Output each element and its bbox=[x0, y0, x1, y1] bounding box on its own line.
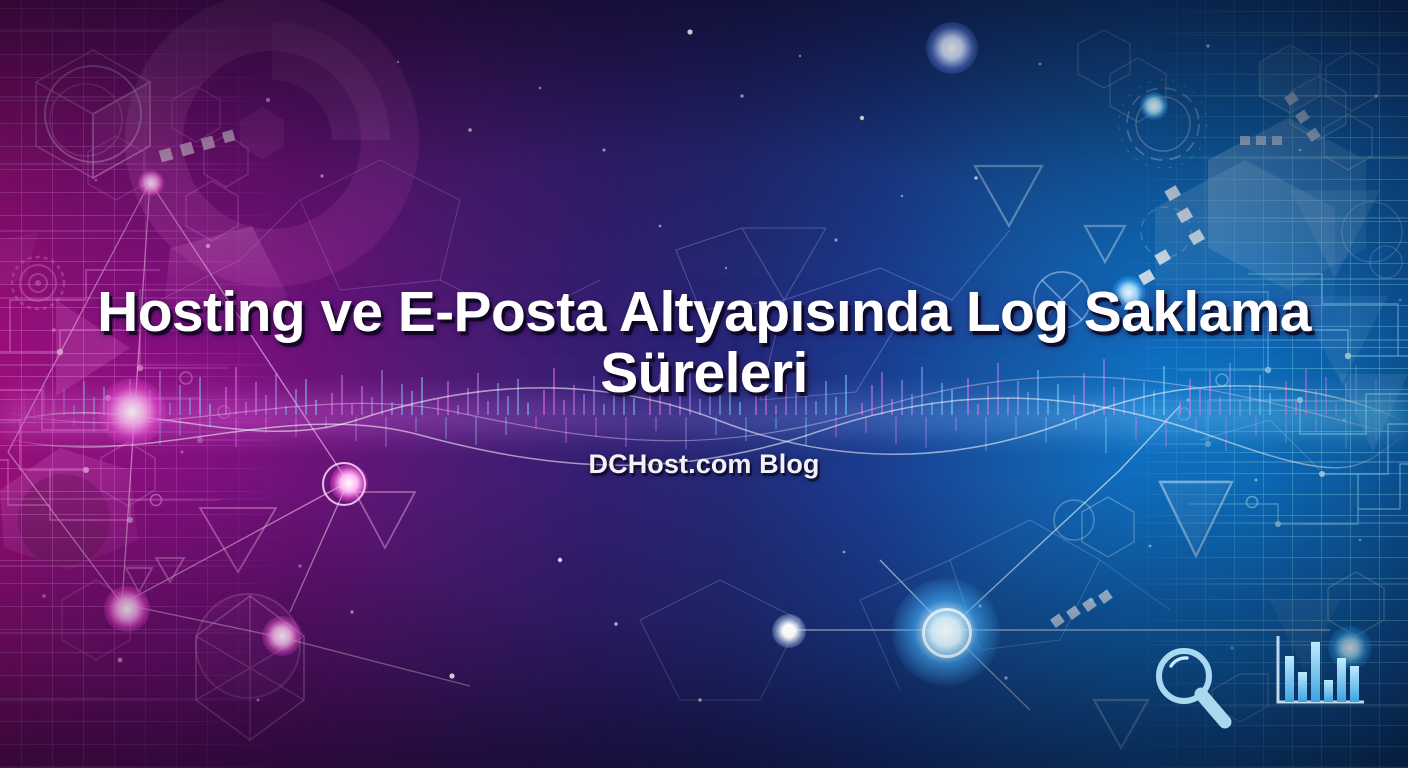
banner-subtitle: DCHost.com Blog bbox=[589, 449, 820, 480]
bar-chart-icon bbox=[1272, 634, 1368, 710]
hero-banner: Hosting ve E-Posta Altyapısında Log Sakl… bbox=[0, 0, 1408, 768]
search-icon bbox=[1151, 644, 1233, 728]
page-title: Hosting ve E-Posta Altyapısında Log Sakl… bbox=[89, 282, 1319, 403]
